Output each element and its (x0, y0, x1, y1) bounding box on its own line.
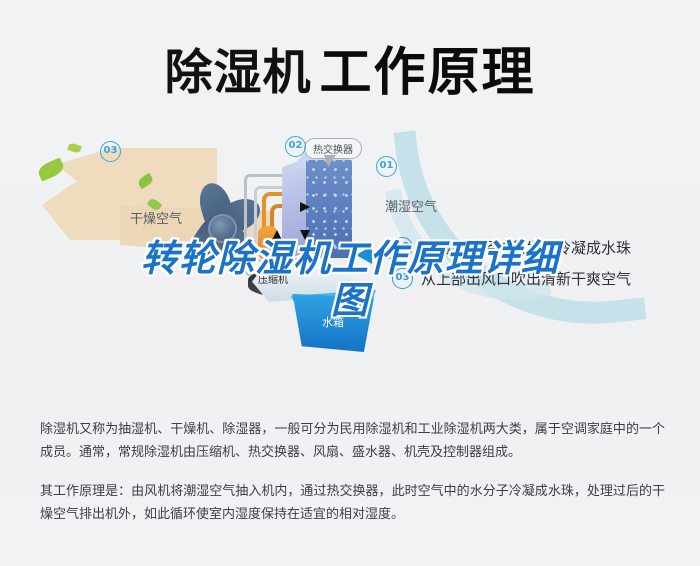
legend-badge-03: 03 (392, 268, 413, 289)
intake-arrow-tail-icon (371, 252, 393, 259)
humid-air-label: 潮湿空气 (385, 196, 437, 215)
flow-arrow-right-icon (300, 202, 310, 212)
compressor-label: 压缩机 (258, 271, 288, 286)
legend-text-02: 潮湿空气经过蒸发器冷凝成水珠 (421, 237, 631, 258)
fan-hub (208, 214, 237, 243)
heat-exchanger-callout-tail-icon (324, 155, 336, 167)
body-paragraph-2: 其工作原理是：由风机将潮湿空气抽入机内，通过热交换器，此时空气中的水分子冷凝成水… (40, 480, 665, 526)
article-body: 除湿机又称为抽湿机、干燥机、除湿器，一般可分为民用除湿机和工业除湿机两大类，属于… (40, 418, 665, 542)
intake-arrow-icon (356, 246, 372, 264)
flow-arrow-up-icon (272, 230, 282, 240)
page-title: 除湿机工作原理 (0, 30, 700, 105)
water-tank-label: 水箱 (322, 314, 344, 330)
leaf-icon (67, 142, 82, 154)
body-paragraph-1: 除湿机又称为抽湿机、干燥机、除湿器，一般可分为民用除湿机和工业除湿机两大类，属于… (40, 418, 665, 464)
legend-item: 02 潮湿空气经过蒸发器冷凝成水珠 (392, 232, 692, 263)
dry-air-label: 干燥空气 (130, 208, 182, 227)
leaf-icon (36, 157, 66, 181)
diagram-legend: 02 潮湿空气经过蒸发器冷凝成水珠 03 从上部出风口吹出清新干爽空气 (392, 232, 692, 294)
legend-item: 03 从上部出风口吹出清新干爽空气 (392, 263, 692, 294)
page-title-part2: 工作原理 (320, 44, 536, 102)
legend-text-03: 从上部出风口吹出清新干爽空气 (421, 268, 631, 289)
flow-arrow-down-icon (300, 230, 310, 240)
diagram-badge-02: 02 (285, 136, 306, 157)
heat-exchanger-face (306, 160, 352, 258)
page-root: 除湿机工作原理 (0, 0, 700, 566)
legend-badge-02: 02 (392, 237, 413, 258)
page-title-part1: 除湿机 (164, 45, 311, 101)
diagram-badge-01: 01 (376, 156, 397, 177)
diagram-badge-03: 03 (100, 141, 121, 162)
